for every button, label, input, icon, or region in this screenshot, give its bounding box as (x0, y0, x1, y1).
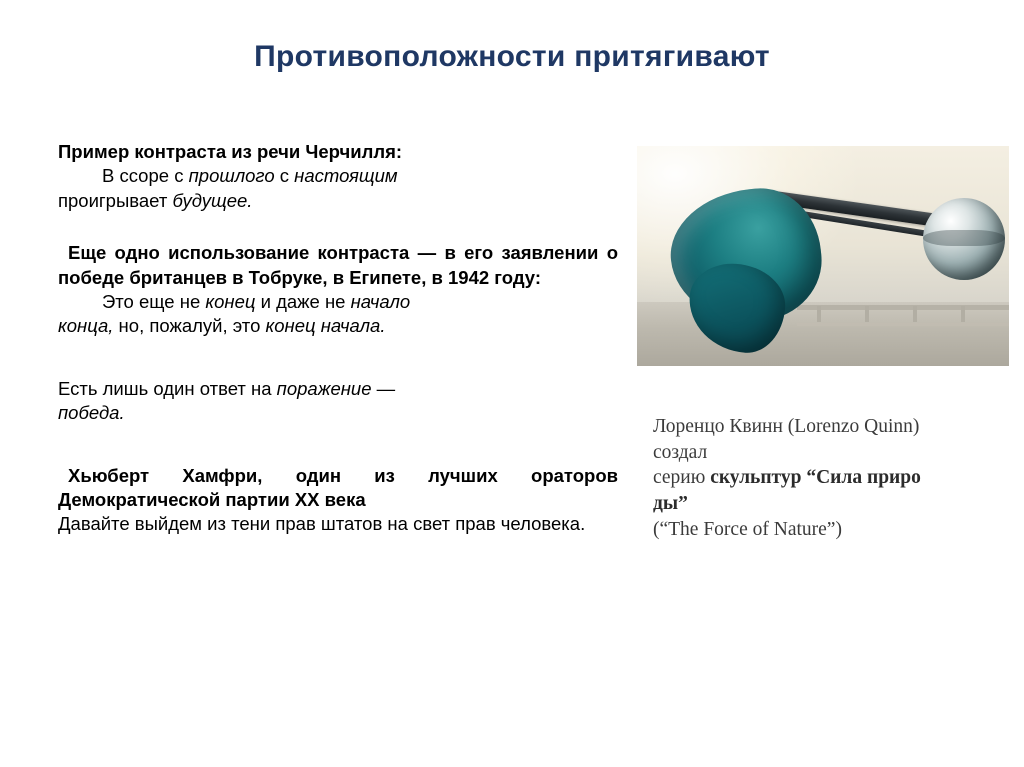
quote-italic-5: начало (351, 291, 411, 312)
slide-canvas: Противоположности притягивают Пример кон… (0, 0, 1024, 767)
quote-italic-1: прошлого (189, 165, 275, 186)
spacer-5 (58, 454, 618, 464)
tobruk-quote-line-1: Это еще не конец и даже не начало (58, 290, 618, 314)
caption-bold-2: ды” (653, 493, 688, 514)
photo-railing-post (865, 306, 869, 322)
text-block-churchill: Пример контраста из речи Черчилля: В ссо… (58, 140, 618, 213)
quote-text-5: и даже не (255, 291, 350, 312)
text-block-tobruk: Еще одно использование контраста — в его… (58, 241, 618, 339)
slide-body-text-column: Пример контраста из речи Черчилля: В ссо… (58, 140, 618, 555)
defeat-text-2: — (372, 378, 396, 399)
tobruk-heading: Еще одно использование контраста — в его… (58, 241, 618, 290)
spacer-4 (58, 444, 618, 454)
churchill-heading: Пример контраста из речи Черчилля: (58, 140, 618, 164)
quote-italic-2: настоящим (294, 165, 397, 186)
quote-text-6: но, пожалуй, это (113, 315, 265, 336)
photo-railing-post (913, 306, 917, 322)
caption-line-4: ды” (653, 491, 1009, 517)
humphrey-heading: Хьюберт Хамфри, один из лучших ораторов … (58, 464, 618, 513)
photo-railing (797, 305, 1009, 310)
photo-railing-lower (797, 323, 1009, 326)
defeat-line-1: Есть лишь один ответ на поражение — (58, 377, 618, 401)
spacer-1 (58, 231, 618, 241)
humphrey-body: Давайте выйдем из тени прав штатов на св… (58, 512, 618, 536)
caption-line-2: создал (653, 440, 1009, 466)
text-block-humphrey: Хьюберт Хамфри, один из лучших ораторов … (58, 464, 618, 537)
churchill-quote-line-2: проигрывает будущее. (58, 189, 618, 213)
caption-line-5: (“The Force of Nature”) (653, 517, 1009, 543)
quote-text: В ссоре с (102, 165, 189, 186)
quote-italic-6: конца, (58, 315, 113, 336)
caption-line-3: серию скульптур “Сила приро (653, 465, 1009, 491)
defeat-line-2: победа. (58, 401, 618, 425)
photo-railing-post (961, 306, 965, 322)
spacer-2 (58, 357, 618, 367)
quote-italic-3: будущее. (172, 190, 252, 211)
quote-italic-7: конец начала. (266, 315, 386, 336)
caption-text: серию (653, 467, 710, 488)
text-block-defeat-victory: Есть лишь один ответ на поражение — побе… (58, 377, 618, 426)
defeat-italic-1: поражение (277, 378, 372, 399)
image-caption: Лоренцо Квинн (Lorenzo Quinn) создал сер… (653, 414, 1009, 543)
spacer-3 (58, 367, 618, 377)
photo-railing-post (817, 306, 821, 322)
caption-line-1: Лоренцо Квинн (Lorenzo Quinn) (653, 414, 1009, 440)
quote-text-4: Это еще не (102, 291, 205, 312)
page-title: Противоположности притягивают (0, 40, 1024, 74)
photo-sculpture-globe-band (923, 230, 1005, 246)
quote-text-2: с (275, 165, 295, 186)
quote-text-3: проигрывает (58, 190, 172, 211)
tobruk-quote-line-2: конца, но, пожалуй, это конец начала. (58, 314, 618, 338)
defeat-text-1: Есть лишь один ответ на (58, 378, 277, 399)
churchill-quote-line-1: В ссоре с прошлого с настоящим (58, 164, 618, 188)
caption-bold-1: скульптур “Сила приро (710, 467, 921, 488)
sculpture-force-of-nature-photo (637, 146, 1009, 366)
quote-italic-4: конец (205, 291, 255, 312)
